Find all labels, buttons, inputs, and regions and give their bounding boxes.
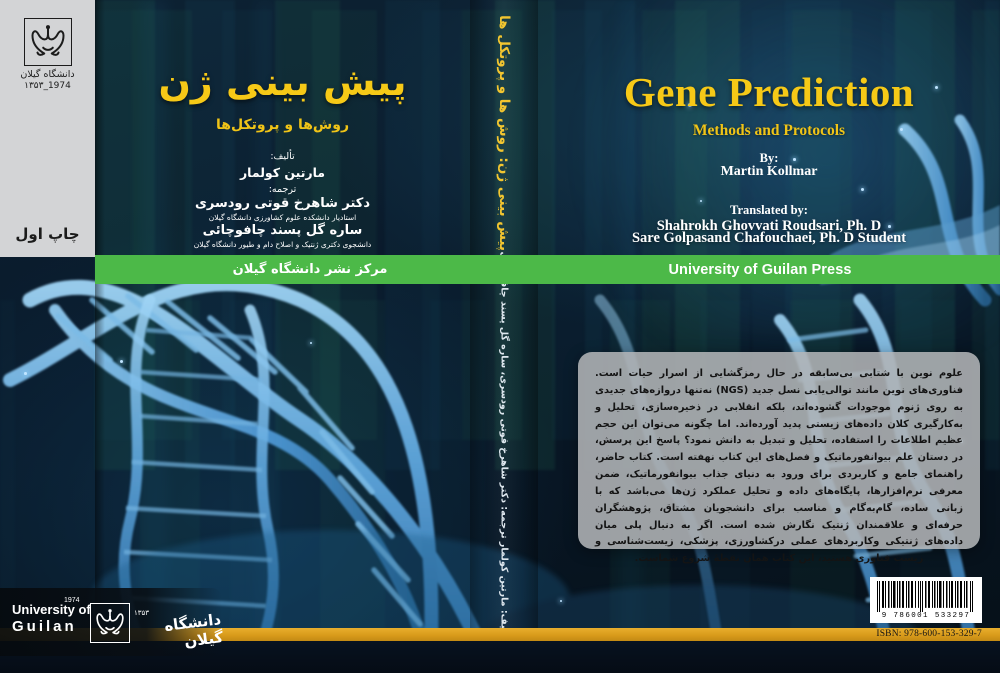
blurb-text: علوم نوین با شتابی بی‌سابقه در حال رمزگش… [595, 366, 963, 568]
bottom-logo-en: University of Guilan [12, 602, 91, 637]
edition-label: چاپ اول [0, 225, 95, 243]
author-en: Martin Kollmar [538, 164, 1000, 180]
bottom-logo-year-fa: ۱۳۵۳ [134, 609, 149, 617]
bottom-logo-line1: University of [12, 602, 91, 618]
university-logo-top: دانشگاه گیلان ۱۳۵۳_1974 [11, 18, 85, 91]
isbn-text: ISBN: 978-600-153-329-7 [876, 629, 982, 639]
logo-name-fa: دانشگاه گیلان [11, 69, 85, 80]
guilan-emblem-icon-bottom [90, 603, 130, 643]
author-fa: مارتین کولمار [95, 165, 470, 180]
publisher-band-label-fa: مرکز نشر دانشگاه گیلان [95, 262, 525, 277]
front-cover-block: Gene Prediction Methods and Protocols By… [538, 0, 1000, 673]
translated-by-label-en: Translated by: [538, 203, 1000, 218]
barcode: 9 786001 533297 [870, 577, 982, 623]
translator-2-affiliation-fa: دانشجوی دکتری ژنتیک و اصلاح دام و طیور د… [95, 240, 470, 249]
translator-2-fa: ساره گل پسند چافوچائی [95, 223, 470, 238]
bottom-logo-year-en: 1974 [64, 597, 80, 604]
publisher-band-label-en: University of Guilan Press [520, 262, 1000, 278]
barcode-bars [875, 581, 977, 612]
back-flap-panel: دانشگاه گیلان ۱۳۵۳_1974 چاپ اول [0, 0, 95, 257]
book-cover: دانشگاه گیلان ۱۳۵۳_1974 چاپ اول پیش بینی… [0, 0, 1000, 673]
back-cover-persian-block: پیش بینی ژن روش‌ها و پروتکل‌ها تألیف: ما… [95, 0, 470, 255]
publisher-band: مرکز نشر دانشگاه گیلان University of Gui… [95, 255, 1000, 284]
by-label-fa: تألیف: [95, 151, 470, 162]
spine-title: پیش بینی ژن: روش ها و پروتکل ها [496, 15, 512, 251]
subtitle-en: Methods and Protocols [538, 122, 1000, 140]
translated-by-label-fa: ترجمه: [95, 184, 470, 195]
translator-1-affiliation-fa: استادیار دانشکده علوم کشاورزی دانشگاه گی… [95, 213, 470, 222]
university-logo-bottom: University of Guilan 1974 ۱۳۵۳ دانشگاه گ… [0, 588, 222, 656]
translator-1-fa: دکتر شاهرخ قوتی رودسری [95, 196, 470, 211]
guilan-emblem-icon [24, 18, 72, 66]
bottom-logo-line2: Guilan [12, 618, 91, 637]
spine-authors: تألیف: مارتین کولمار ترجمه: دکتر شاهرخ ق… [499, 251, 510, 639]
title-en: Gene Prediction [538, 68, 1000, 116]
barcode-digits: 9 786001 533297 [875, 612, 977, 621]
subtitle-fa: روش‌ها و پروتکل‌ها [95, 117, 470, 133]
book-spine: پیش بینی ژن: روش ها و پروتکل ها تألیف: م… [470, 0, 538, 673]
translator-2-en: Sare Golpasand Chafouchaei, Ph. D Studen… [538, 230, 1000, 247]
back-cover-blurb-box: علوم نوین با شتابی بی‌سابقه در حال رمزگش… [578, 352, 980, 549]
title-fa: پیش بینی ژن [95, 60, 470, 104]
bottom-logo-name-fa: دانشگاه گیلان [130, 610, 224, 657]
logo-years: ۱۳۵۳_1974 [11, 81, 85, 91]
